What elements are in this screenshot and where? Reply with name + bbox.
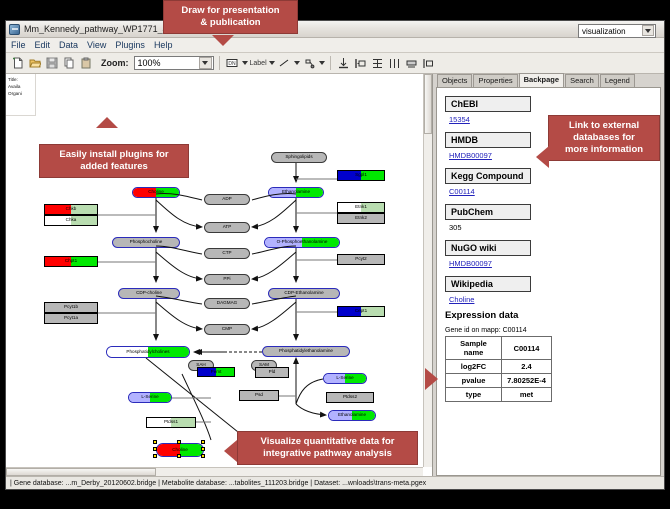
node-label: Pcyt2 bbox=[355, 257, 367, 262]
tab-backpage[interactable]: Backpage bbox=[519, 73, 564, 87]
expression-data-title: Expression data bbox=[445, 310, 652, 321]
tool-bar: Zoom: 100% DN Label bbox=[6, 53, 664, 74]
selection-handle[interactable] bbox=[177, 440, 181, 444]
pathway-canvas[interactable]: Title: Availa Organi bbox=[6, 74, 433, 476]
node-label: Chkb bbox=[66, 207, 77, 212]
visualization-value: visualization bbox=[582, 27, 626, 36]
menu-item-file[interactable]: File bbox=[11, 40, 26, 50]
tab-objects[interactable]: Objects bbox=[437, 74, 472, 87]
callout-quantitative: Visualize quantitative data for integrat… bbox=[237, 431, 418, 465]
db-block-pubchem: PubChem 305 bbox=[445, 202, 652, 232]
new-document-icon[interactable] bbox=[10, 56, 25, 71]
pathway-organism-label: Organi bbox=[8, 90, 34, 97]
align-bottom-icon[interactable] bbox=[336, 56, 351, 71]
zoom-value: 100% bbox=[138, 58, 161, 68]
pathvisio-icon bbox=[9, 24, 20, 35]
table-row: type met bbox=[446, 388, 552, 402]
line-icon[interactable] bbox=[277, 56, 292, 71]
scroll-thumb[interactable] bbox=[424, 74, 432, 134]
node-label: Pcyt1b bbox=[64, 305, 78, 310]
svg-text:DN: DN bbox=[228, 61, 236, 67]
toolbar-separator bbox=[330, 56, 331, 70]
node-label: Ethanolamine bbox=[338, 413, 366, 418]
zoom-combo[interactable]: 100% bbox=[134, 56, 214, 70]
callout-quantitative-arrow bbox=[224, 440, 237, 462]
menu-item-plugins[interactable]: Plugins bbox=[115, 40, 145, 50]
group-icon[interactable] bbox=[421, 56, 436, 71]
pathway-edges bbox=[6, 74, 433, 476]
db-link-nugo[interactable]: HMDB00097 bbox=[449, 259, 652, 268]
selection-handle[interactable] bbox=[201, 440, 205, 444]
datanode-tool[interactable]: DN bbox=[225, 56, 248, 71]
node-label: Phosphatidylcholines bbox=[126, 350, 169, 355]
align-left-icon[interactable] bbox=[353, 56, 368, 71]
node-label: ATP bbox=[223, 225, 232, 230]
menu-item-edit[interactable]: Edit bbox=[35, 40, 51, 50]
pathway-title-label: Title: bbox=[8, 76, 34, 83]
db-block-nugo: NuGO wiki HMDB00097 bbox=[445, 238, 652, 268]
paste-icon[interactable] bbox=[78, 56, 93, 71]
selection-handle[interactable] bbox=[153, 440, 157, 444]
node-label: L-Serine bbox=[141, 395, 158, 400]
selection-handle[interactable] bbox=[201, 454, 205, 458]
node-label: Cept1 bbox=[355, 309, 367, 314]
callout-plugins: Easily install plugins for added feature… bbox=[39, 144, 189, 178]
node-label: CMP bbox=[222, 327, 232, 332]
node-label: SAH bbox=[196, 363, 205, 368]
open-folder-icon[interactable] bbox=[27, 56, 42, 71]
node-label: Sgpl1 bbox=[355, 173, 367, 178]
node-label: Pcyt1a bbox=[64, 316, 78, 321]
node-label: Etnk2 bbox=[355, 216, 367, 221]
menu-item-data[interactable]: Data bbox=[59, 40, 78, 50]
node-label: Chka bbox=[66, 218, 77, 223]
callout-publication: Draw for presentation & publication bbox=[163, 0, 298, 34]
menu-bar: File Edit Data View Plugins Help bbox=[6, 38, 664, 53]
menu-item-help[interactable]: Help bbox=[154, 40, 173, 50]
callout-expression-arrow bbox=[425, 368, 438, 390]
label-tool-text: Label bbox=[250, 60, 267, 67]
selection-handle[interactable] bbox=[201, 447, 205, 451]
node-label: Ptdss1 bbox=[164, 420, 178, 425]
selection-handle[interactable] bbox=[177, 454, 181, 458]
scroll-thumb[interactable] bbox=[6, 468, 156, 476]
node-label: L-Serine bbox=[336, 376, 353, 381]
cell-key: log2FC bbox=[446, 360, 502, 374]
cell-value: 7.80252E-4 bbox=[502, 374, 552, 388]
node-label: Choline bbox=[148, 190, 164, 195]
menu-item-view[interactable]: View bbox=[87, 40, 106, 50]
node-label: Sphingolipids bbox=[285, 155, 312, 160]
title-bar: Mm_Kennedy_pathway_WP1771_45176.gpml bbox=[6, 21, 664, 38]
expression-table: Sample name C00114 log2FC 2.4 pvalue 7.8… bbox=[445, 336, 552, 402]
node-label: Choline bbox=[172, 448, 188, 453]
save-icon[interactable] bbox=[44, 56, 59, 71]
status-text: | Gene database: ...m_Derby_20120602.bri… bbox=[10, 480, 426, 487]
node-label: SAM bbox=[259, 363, 269, 368]
selection-handle[interactable] bbox=[153, 447, 157, 451]
cell-value: met bbox=[502, 388, 552, 402]
callout-publication-arrow bbox=[212, 35, 234, 46]
anchor-tool[interactable] bbox=[302, 56, 325, 71]
visualization-combo[interactable]: visualization bbox=[578, 24, 656, 38]
db-link-kegg[interactable]: C00114 bbox=[449, 187, 652, 196]
data-node-icon[interactable]: DN bbox=[225, 56, 240, 71]
node-label: CDP-choline bbox=[136, 291, 162, 296]
node-label: Ethanolamine bbox=[282, 190, 310, 195]
db-link-wikipedia[interactable]: Choline bbox=[449, 295, 652, 304]
zoom-label: Zoom: bbox=[101, 58, 129, 68]
pathvisio-window: Mm_Kennedy_pathway_WP1771_45176.gpml Fil… bbox=[5, 20, 665, 490]
db-name-pubchem: PubChem bbox=[445, 204, 531, 220]
node-label: Psd bbox=[255, 393, 263, 398]
node-label: CDP-Ethanolamine bbox=[284, 291, 323, 296]
db-block-wikipedia: Wikipedia Choline bbox=[445, 274, 652, 304]
node-label: Pemt bbox=[211, 370, 222, 375]
distribute-horizontal-icon[interactable] bbox=[387, 56, 402, 71]
callout-publication-text: Draw for presentation & publication bbox=[181, 5, 279, 28]
callout-external-db-text: Link to external databases for more info… bbox=[565, 120, 643, 155]
label-tool[interactable]: Label bbox=[250, 60, 275, 67]
tab-legend[interactable]: Legend bbox=[600, 74, 635, 87]
node-label: Ptdss2 bbox=[343, 395, 357, 400]
callout-external-db-arrow bbox=[536, 146, 549, 168]
node-label: DAGMAG bbox=[217, 301, 237, 306]
callout-plugins-arrow bbox=[96, 117, 118, 128]
db-value-pubchem: 305 bbox=[449, 223, 652, 232]
cell-value: C00114 bbox=[502, 337, 552, 360]
callout-external-db: Link to external databases for more info… bbox=[548, 115, 660, 161]
toolbar-separator bbox=[219, 56, 220, 70]
anchor-icon[interactable] bbox=[302, 56, 317, 71]
node-label: Pld bbox=[269, 370, 276, 375]
node-label: PPi bbox=[223, 277, 230, 282]
node-label: Etnk1 bbox=[355, 205, 367, 210]
db-name-chebi: ChEBI bbox=[445, 96, 531, 112]
db-name-wikipedia: Wikipedia bbox=[445, 276, 531, 292]
pathway-metadata: Title: Availa Organi bbox=[6, 74, 36, 116]
chevron-down-icon[interactable] bbox=[199, 57, 212, 69]
table-row: pvalue 7.80252E-4 bbox=[446, 374, 552, 388]
line-tool[interactable] bbox=[277, 56, 300, 71]
callout-plugins-line1: Easily install plugins for added feature… bbox=[59, 149, 168, 172]
side-panel-tabs: Objects Properties Backpage Search Legen… bbox=[433, 74, 664, 87]
gene-id-line: Gene id on mapp: C00114 bbox=[445, 327, 652, 334]
db-name-kegg: Kegg Compound bbox=[445, 168, 531, 184]
db-name-nugo: NuGO wiki bbox=[445, 240, 531, 256]
canvas-vertical-scrollbar[interactable] bbox=[423, 74, 432, 467]
node-label: Phosphocholine bbox=[130, 240, 163, 245]
cell-key: type bbox=[446, 388, 502, 402]
callout-quantitative-line1: Visualize quantitative data for integrat… bbox=[261, 436, 395, 459]
status-bar: | Gene database: ...m_Derby_20120602.bri… bbox=[6, 476, 664, 489]
node-label: CTP bbox=[222, 251, 231, 256]
stack-icon[interactable] bbox=[404, 56, 419, 71]
pathway-available-label: Availa bbox=[8, 83, 34, 90]
db-block-kegg: Kegg Compound C00114 bbox=[445, 166, 652, 196]
chevron-down-icon[interactable] bbox=[642, 25, 654, 36]
cell-key: pvalue bbox=[446, 374, 502, 388]
selection-handle[interactable] bbox=[153, 454, 157, 458]
node-label: Phosphatidylethanolamine bbox=[279, 349, 333, 354]
node-label: Chpt1 bbox=[65, 259, 77, 264]
distribute-vertical-icon[interactable] bbox=[370, 56, 385, 71]
tab-search[interactable]: Search bbox=[565, 74, 599, 87]
cell-key: Sample name bbox=[446, 337, 502, 360]
node-label: ADP bbox=[222, 197, 231, 202]
node-label: O-Phosphoethanolamine bbox=[277, 240, 328, 245]
canvas-horizontal-scrollbar[interactable] bbox=[6, 467, 423, 476]
tab-properties[interactable]: Properties bbox=[473, 74, 517, 87]
copy-icon[interactable] bbox=[61, 56, 76, 71]
table-row: log2FC 2.4 bbox=[446, 360, 552, 374]
table-row: Sample name C00114 bbox=[446, 337, 552, 360]
cell-value: 2.4 bbox=[502, 360, 552, 374]
db-name-hmdb: HMDB bbox=[445, 132, 531, 148]
